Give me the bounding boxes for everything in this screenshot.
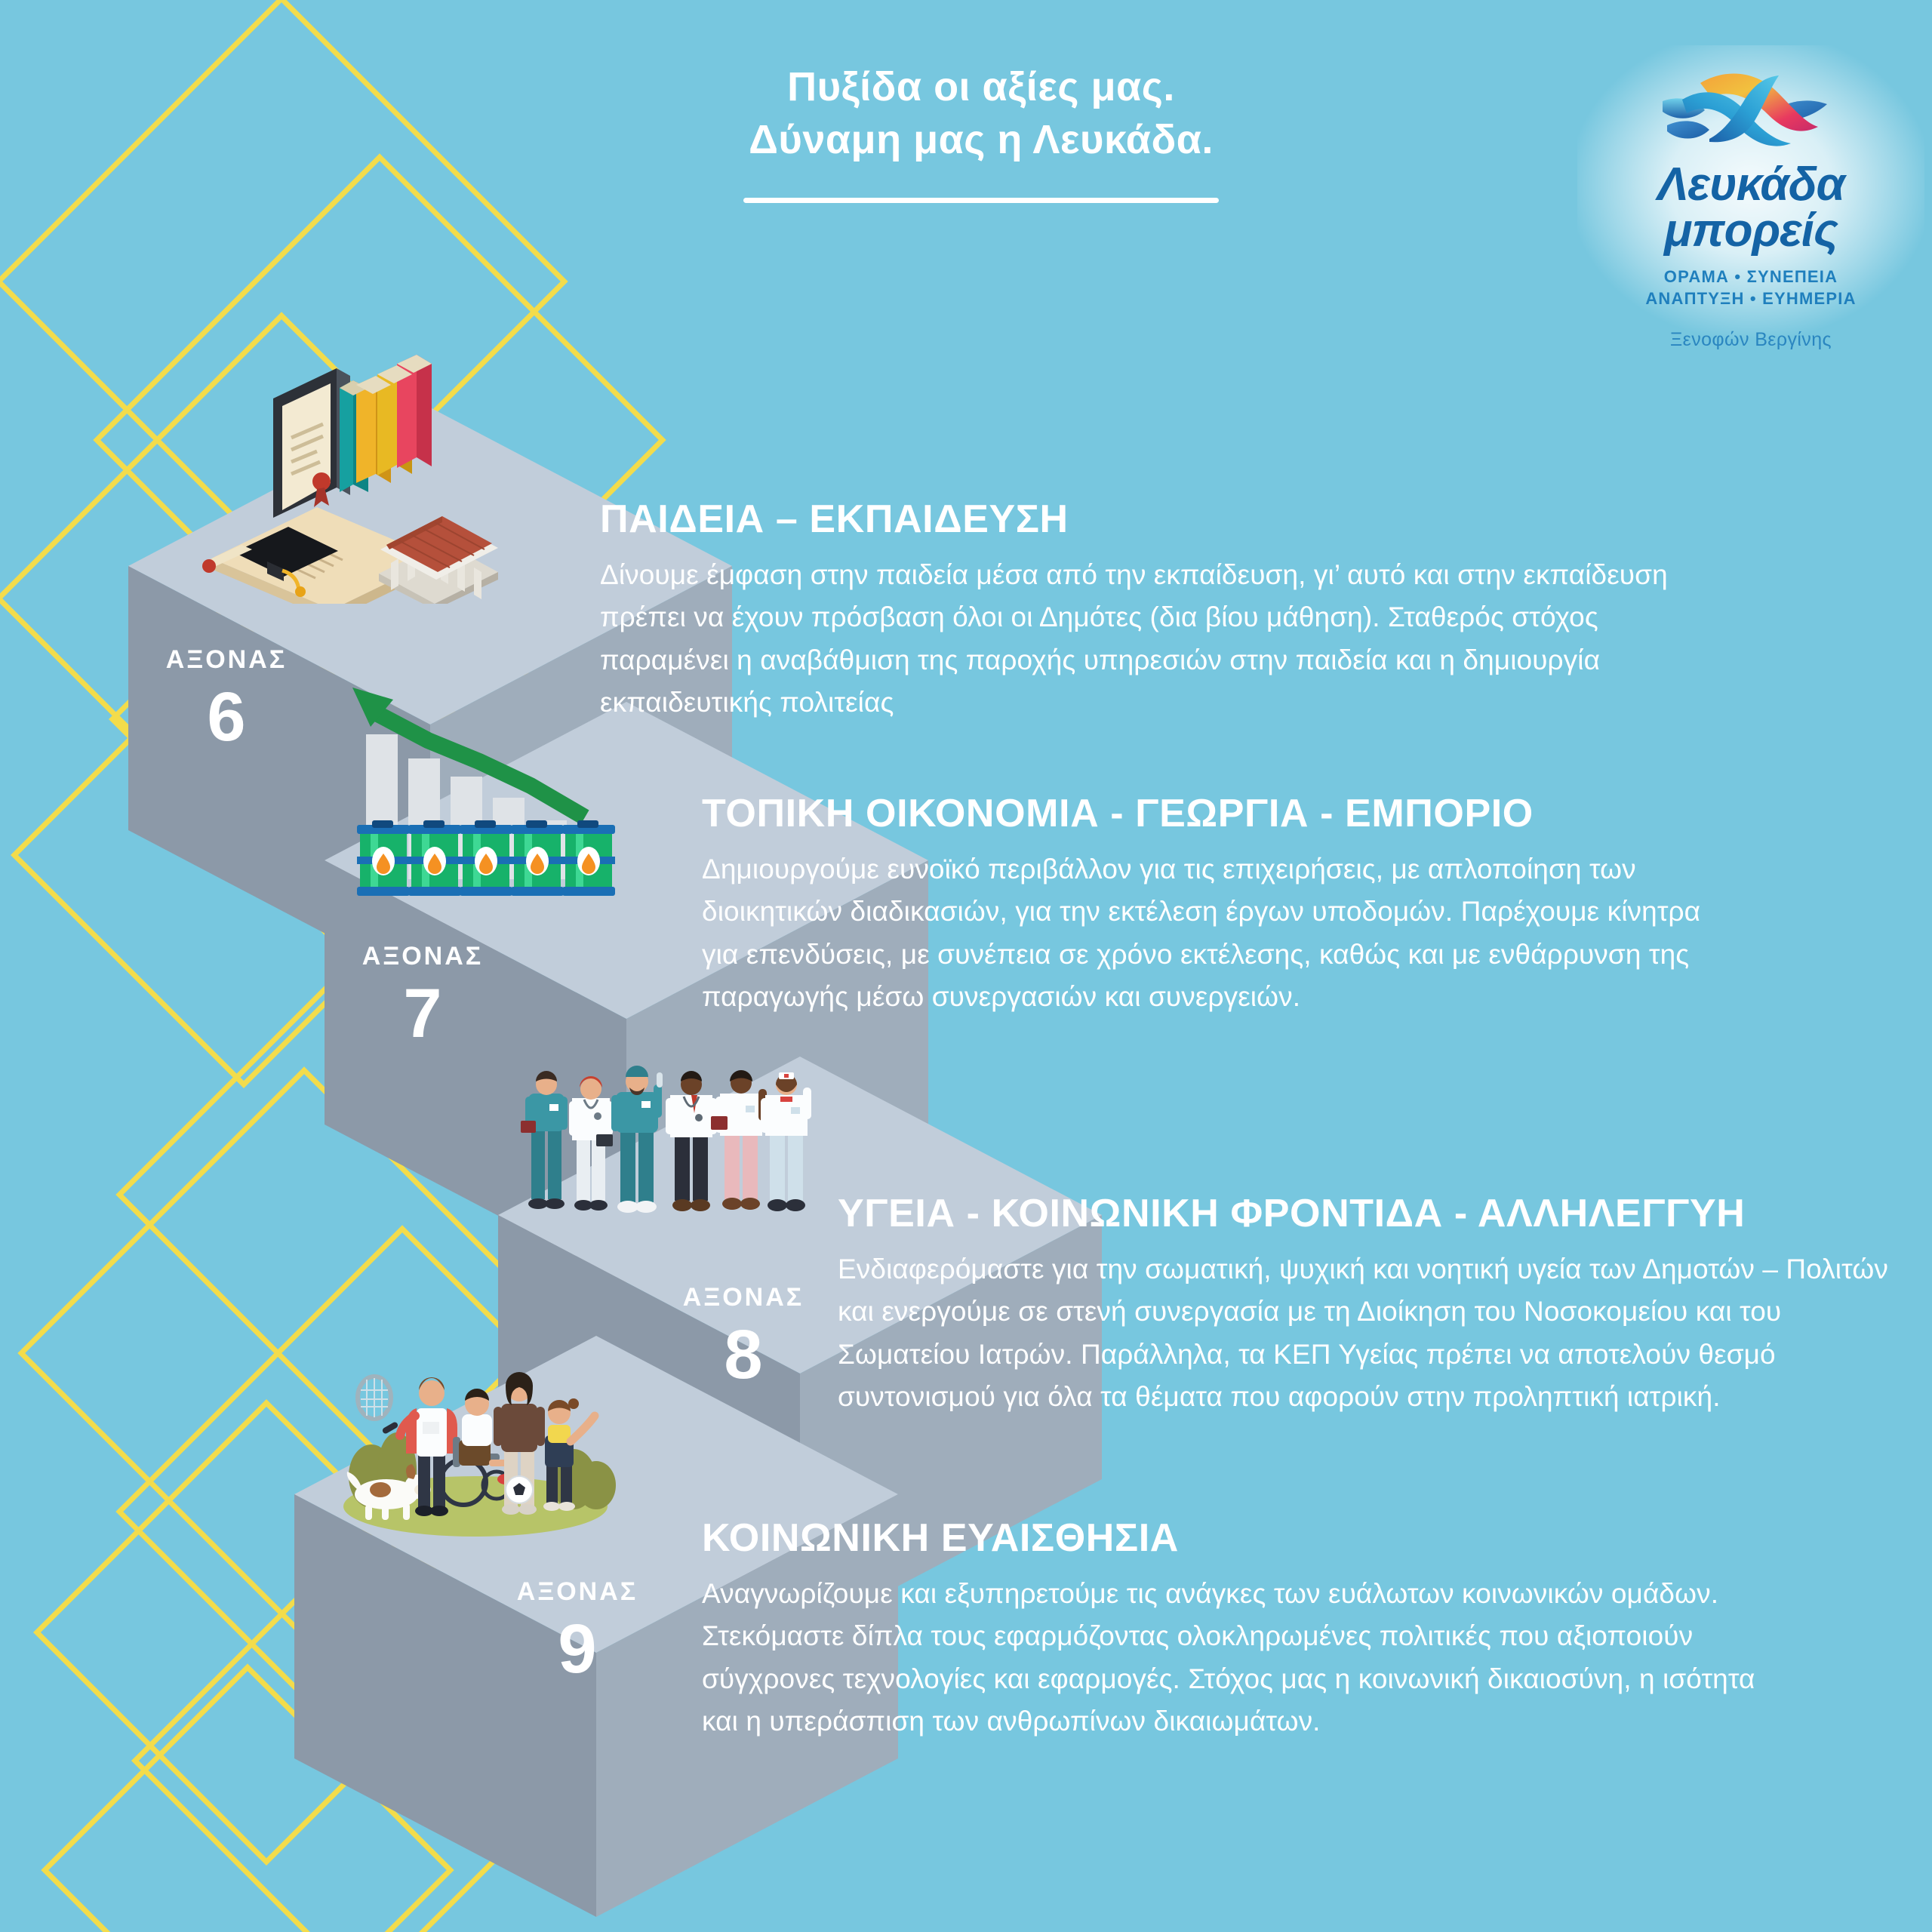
logo-tagline-line-2: ΑΝΑΠΤΥΞΗ • ΕΥΗΜΕΡΙΑ	[1645, 288, 1856, 309]
axis-label-7-title: ΑΞΟΝΑΣ	[328, 942, 517, 971]
logo-tagline: ΟΡΑΜΑ • ΣΥΝΕΠΕΙΑ ΑΝΑΠΤΥΞΗ • ΕΥΗΜΕΡΙΑ	[1645, 266, 1856, 309]
axis-label-6: ΑΞΟΝΑΣ 6	[132, 645, 321, 752]
header-line-2: Δύναμη μας η Λευκάδα.	[528, 113, 1434, 166]
axis-section-6-title: ΠΑΙΔΕΙΑ – ΕΚΠΑΙΔΕΥΣΗ	[600, 498, 1702, 540]
education-illustration	[189, 332, 536, 604]
header-line-1: Πυξίδα οι αξίες μας.	[528, 60, 1434, 113]
axis-label-8: ΑΞΟΝΑΣ 8	[649, 1283, 838, 1389]
axis-section-6: ΠΑΙΔΕΙΑ – ΕΚΠΑΙΔΕΥΣΗ Δίνουμε έμφαση στην…	[600, 498, 1702, 724]
axis-label-9-number: 9	[483, 1614, 672, 1684]
axis-section-9-title: ΚΟΙΝΩΝΙΚΗ ΕΥΑΙΣΘΗΣΙΑ	[702, 1517, 1758, 1559]
axis-label-9-title: ΑΞΟΝΑΣ	[483, 1577, 672, 1607]
axis-label-8-number: 8	[649, 1320, 838, 1389]
axis-section-9: ΚΟΙΝΩΝΙΚΗ ΕΥΑΙΣΘΗΣΙΑ Αναγνωρίζουμε και ε…	[702, 1517, 1758, 1743]
header: Πυξίδα οι αξίες μας. Δύναμη μας η Λευκάδ…	[528, 60, 1434, 203]
axis-section-8: ΥΓΕΙΑ - ΚΟΙΝΩΝΙΚΗ ΦΡΟΝΤΙΔΑ - ΑΛΛΗΛΕΓΓΥΗ …	[838, 1192, 1909, 1418]
axis-label-6-title: ΑΞΟΝΑΣ	[132, 645, 321, 675]
axis-section-6-body: Δίνουμε έμφαση στην παιδεία μέσα από την…	[600, 554, 1702, 724]
axis-section-8-title: ΥΓΕΙΑ - ΚΟΙΝΩΝΙΚΗ ΦΡΟΝΤΙΔΑ - ΑΛΛΗΛΕΓΓΥΗ	[838, 1192, 1909, 1235]
header-divider	[743, 198, 1219, 203]
axis-section-9-body: Αναγνωρίζουμε και εξυπηρετούμε τις ανάγκ…	[702, 1573, 1758, 1743]
logo-word-line-1: Λευκάδα	[1657, 158, 1844, 211]
logo-wordmark: Λευκάδα μπορείς	[1657, 163, 1844, 254]
axis-section-8-body: Ενδιαφερόμαστε για την σωματική, ψυχική …	[838, 1248, 1909, 1418]
axis-label-7: ΑΞΟΝΑΣ 7	[328, 942, 517, 1048]
axis-section-7-title: ΤΟΠΙΚΗ ΟΙΚΟΝΟΜΙΑ - ΓΕΩΡΓΙΑ - ΕΜΠΟΡΙΟ	[702, 792, 1706, 835]
axis-label-6-number: 6	[132, 682, 321, 752]
healthcare-illustration	[513, 1045, 815, 1264]
axis-section-7-body: Δημιουργούμε ευνοϊκό περιβάλλον για τις …	[702, 848, 1706, 1018]
axis-label-9: ΑΞΟΝΑΣ 9	[483, 1577, 672, 1684]
logo-word-line-2: μπορείς	[1657, 209, 1844, 254]
axis-section-7: ΤΟΠΙΚΗ ΟΙΚΟΝΟΜΙΑ - ΓΕΩΡΓΙΑ - ΕΜΠΟΡΙΟ Δημ…	[702, 792, 1706, 1018]
family-inclusion-illustration	[325, 1328, 626, 1547]
infographic-canvas: Πυξίδα οι αξίες μας. Δύναμη μας η Λευκάδ…	[0, 0, 1932, 1932]
bird-ribbon-logo-icon	[1657, 66, 1845, 160]
logo[interactable]: Λευκάδα μπορείς ΟΡΑΜΑ • ΣΥΝΕΠΕΙΑ ΑΝΑΠΤΥΞ…	[1577, 45, 1924, 362]
axis-label-7-number: 7	[328, 979, 517, 1048]
axis-label-8-title: ΑΞΟΝΑΣ	[649, 1283, 838, 1312]
candidate-name: Ξενοφών Βεργίνης	[1670, 329, 1832, 351]
economy-illustration	[343, 683, 630, 917]
logo-tagline-line-1: ΟΡΑΜΑ • ΣΥΝΕΠΕΙΑ	[1645, 266, 1856, 288]
